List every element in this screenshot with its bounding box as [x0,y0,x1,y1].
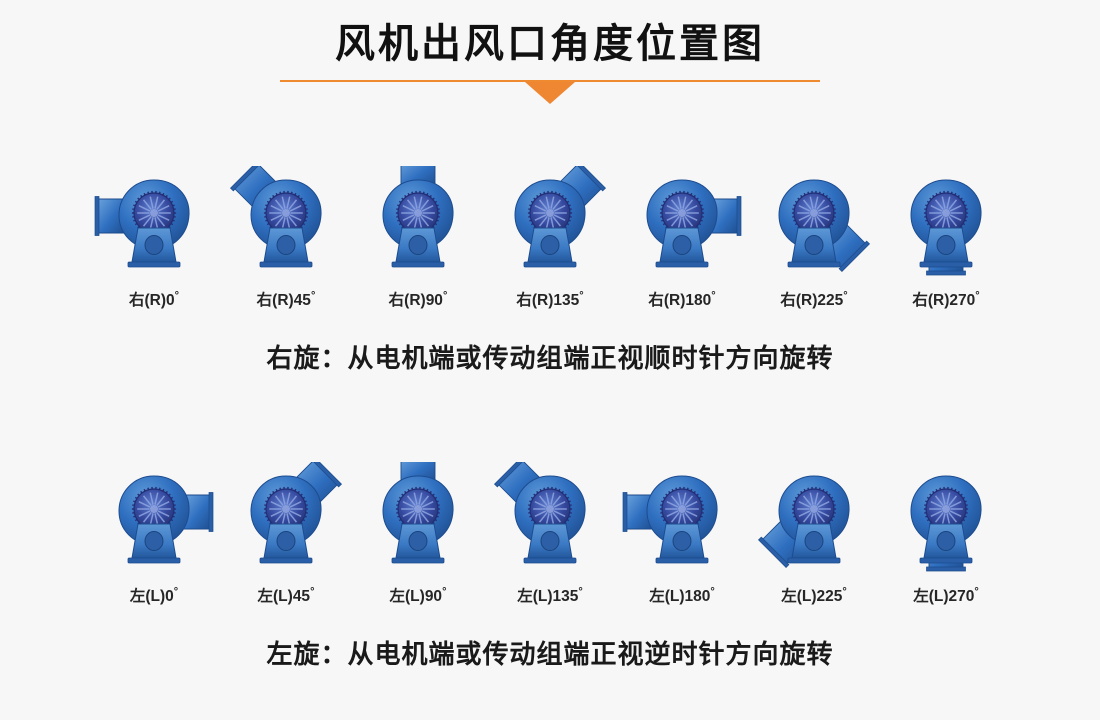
fan-cell-left-rotation-135: 左(L)135° [484,462,616,606]
fan-shaft-port [937,236,955,255]
fan-label-prefix: 左(L) [517,588,552,605]
fan-foot [788,262,840,267]
fan-illustration [754,462,874,574]
fan-cell-right-rotation-270: 右(R)270° [880,166,1012,310]
fan-label-angle: 225 [817,292,843,309]
fan-illustration [754,166,874,278]
fan-angle-label: 右(R)90° [389,288,448,310]
fan-art-wrapper [94,462,214,574]
fan-shaft-port [805,532,823,551]
degree-symbol-icon: ° [310,586,314,598]
fan-angle-label: 右(R)45° [257,288,316,310]
degree-symbol-icon: ° [311,290,315,302]
fan-angle-label: 右(R)180° [648,288,715,310]
fan-illustration [886,166,1006,278]
fan-shaft-port [673,532,691,551]
fan-shaft-port [409,236,427,255]
fan-art-wrapper [886,166,1006,278]
fan-label-angle: 135 [553,588,579,605]
fan-label-angle: 45 [293,588,310,605]
fan-art-wrapper [358,166,478,278]
fan-foot [260,558,312,563]
fan-shaft-port [277,532,295,551]
fan-illustration [490,462,610,574]
page-header: 风机出风口角度位置图 [0,0,1100,104]
fan-angle-label: 左(L)225° [781,584,847,606]
fan-shaft-port [409,532,427,551]
fan-cell-left-rotation-180: 左(L)180° [616,462,748,606]
fan-cell-right-rotation-0: 右(R)0° [88,166,220,310]
fan-cell-right-rotation-45: 右(R)45° [220,166,352,310]
degree-symbol-icon: ° [711,290,715,302]
section-right-rotation: 右(R)0° [0,166,1100,375]
fan-foot [392,262,444,267]
fan-label-prefix: 右(R) [648,292,685,309]
fan-cell-left-rotation-45: 左(L)45° [220,462,352,606]
fan-illustration [94,462,214,574]
fan-shaft-port [937,532,955,551]
fan-shaft-port [673,236,691,255]
fan-art-wrapper [358,462,478,574]
fan-angle-label: 左(L)270° [913,584,979,606]
fan-label-angle: 225 [817,588,843,605]
fan-illustration [622,462,742,574]
fan-cell-left-rotation-90: 左(L)90° [352,462,484,606]
caption-left-rotation: 左旋：从电机端或传动组端正视逆时针方向旋转 [0,634,1100,671]
fan-cell-right-rotation-135: 右(R)135° [484,166,616,310]
fan-label-prefix: 右(R) [516,292,553,309]
fan-label-angle: 45 [294,292,311,309]
degree-symbol-icon: ° [843,290,847,302]
fan-angle-label: 右(R)0° [129,288,179,310]
fan-art-wrapper [490,462,610,574]
fan-angle-label: 左(L)0° [130,584,178,606]
fan-label-prefix: 左(L) [649,588,684,605]
degree-symbol-icon: ° [842,586,846,598]
fan-shaft-port [541,532,559,551]
fan-shaft-port [541,236,559,255]
fan-illustration [358,166,478,278]
fan-label-prefix: 左(L) [913,588,948,605]
fan-label-angle: 90 [426,292,443,309]
fan-foot [656,558,708,563]
fan-label-angle: 135 [553,292,579,309]
fan-cell-right-rotation-180: 右(R)180° [616,166,748,310]
fan-foot [920,558,972,563]
fan-label-prefix: 左(L) [390,588,425,605]
degree-symbol-icon: ° [710,586,714,598]
fan-art-wrapper [226,462,346,574]
fan-foot [788,558,840,563]
degree-symbol-icon: ° [579,290,583,302]
fan-illustration [226,462,346,574]
fan-angle-label: 右(R)225° [780,288,847,310]
fan-label-prefix: 左(L) [258,588,293,605]
fan-shaft-port [277,236,295,255]
fan-label-prefix: 右(R) [257,292,294,309]
fan-shaft-port [145,532,163,551]
degree-symbol-icon: ° [975,290,979,302]
fan-cell-left-rotation-270: 左(L)270° [880,462,1012,606]
degree-symbol-icon: ° [578,586,582,598]
fan-art-wrapper [94,166,214,278]
fan-art-wrapper [490,166,610,278]
fan-label-prefix: 左(L) [781,588,816,605]
fan-foot [920,262,972,267]
fan-angle-label: 左(L)90° [390,584,447,606]
fan-label-prefix: 右(R) [389,292,426,309]
caption-right-rotation: 右旋：从电机端或传动组端正视顺时针方向旋转 [0,338,1100,375]
fan-angle-label: 右(R)135° [516,288,583,310]
fan-foot [392,558,444,563]
fan-foot [524,262,576,267]
fan-foot [260,262,312,267]
triangle-down-icon [525,82,575,104]
page-title: 风机出风口角度位置图 [0,22,1100,66]
fan-shaft-port [805,236,823,255]
fan-label-angle: 0 [165,588,174,605]
fan-cell-right-rotation-90: 右(R)90° [352,166,484,310]
fan-cell-right-rotation-225: 右(R)225° [748,166,880,310]
fan-foot [524,558,576,563]
fan-shaft-port [145,236,163,255]
fan-art-wrapper [226,166,346,278]
fan-cell-left-rotation-225: 左(L)225° [748,462,880,606]
fan-art-wrapper [754,462,874,574]
section-left-rotation: 左(L)0° [0,462,1100,671]
fan-row-right: 右(R)0° [0,166,1100,310]
degree-symbol-icon: ° [443,290,447,302]
fan-row-left: 左(L)0° [0,462,1100,606]
fan-angle-label: 左(L)45° [258,584,315,606]
fan-foot [128,262,180,267]
degree-symbol-icon: ° [174,586,178,598]
fan-label-prefix: 右(R) [912,292,949,309]
fan-label-prefix: 右(R) [129,292,166,309]
fan-angle-label: 右(R)270° [912,288,979,310]
fan-art-wrapper [622,166,742,278]
fan-illustration [490,166,610,278]
fan-art-wrapper [622,462,742,574]
fan-label-angle: 180 [685,588,711,605]
fan-label-angle: 0 [166,292,175,309]
fan-label-prefix: 右(R) [780,292,817,309]
fan-angle-label: 左(L)135° [517,584,583,606]
fan-label-angle: 90 [425,588,442,605]
fan-angle-label: 左(L)180° [649,584,715,606]
degree-symbol-icon: ° [442,586,446,598]
fan-foot [656,262,708,267]
fan-label-angle: 270 [949,588,975,605]
fan-art-wrapper [754,166,874,278]
fan-label-angle: 180 [685,292,711,309]
fan-illustration [886,462,1006,574]
fan-label-prefix: 左(L) [130,588,165,605]
fan-cell-left-rotation-0: 左(L)0° [88,462,220,606]
degree-symbol-icon: ° [974,586,978,598]
fan-art-wrapper [886,462,1006,574]
degree-symbol-icon: ° [175,290,179,302]
fan-illustration [226,166,346,278]
fan-illustration [94,166,214,278]
fan-foot [128,558,180,563]
fan-illustration [358,462,478,574]
fan-illustration [622,166,742,278]
fan-label-angle: 270 [949,292,975,309]
